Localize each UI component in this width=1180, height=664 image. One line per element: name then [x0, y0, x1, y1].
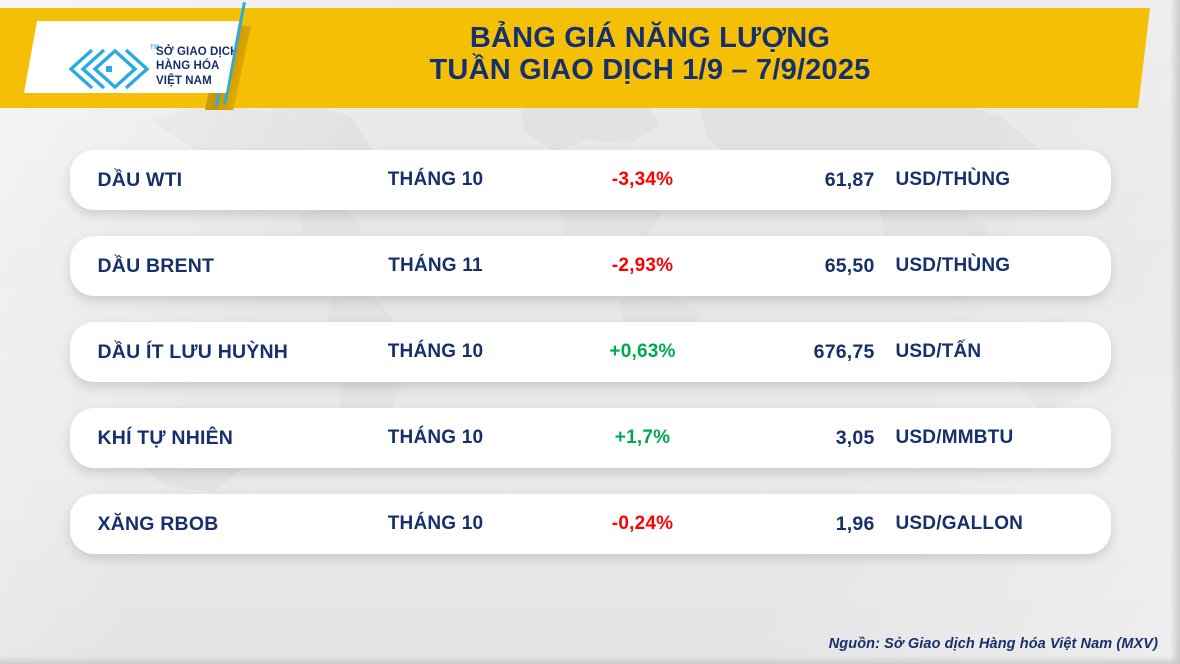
price-unit: USD/GALLON	[896, 513, 1096, 535]
table-row[interactable]: DẦU ÍT LƯU HUỲNHTHÁNG 10+0,63%676,75USD/…	[70, 322, 1111, 382]
logo-card: TM SỞ GIAO DỊCH HÀNG HÓA VIỆT NAM	[24, 21, 239, 93]
commodity-name: DẦU WTI	[98, 169, 368, 192]
table-row[interactable]: DẦU BRENTTHÁNG 11-2,93%65,50USD/THÙNG	[70, 236, 1111, 296]
commodity-name: DẦU ÍT LƯU HUỲNH	[98, 341, 368, 364]
commodity-name: KHÍ TỰ NHIÊN	[98, 427, 368, 450]
change-percent: -2,93%	[548, 255, 738, 277]
page-title: BẢNG GIÁ NĂNG LƯỢNG TUẦN GIAO DỊCH 1/9 –…	[260, 22, 1040, 87]
contract-month: THÁNG 10	[356, 427, 516, 449]
contract-month: THÁNG 10	[356, 513, 516, 535]
source-attribution: Nguồn: Sở Giao dịch Hàng hóa Việt Nam (M…	[829, 636, 1158, 652]
price-value: 65,50	[720, 255, 875, 278]
commodity-name: DẦU BRENT	[98, 255, 368, 278]
price-table: DẦU WTITHÁNG 10-3,34%61,87USD/THÙNGDẦU B…	[0, 150, 1180, 580]
title-line-1: BẢNG GIÁ NĂNG LƯỢNG	[260, 22, 1040, 54]
price-value: 61,87	[720, 169, 875, 192]
price-unit: USD/THÙNG	[896, 169, 1096, 191]
table-row[interactable]: XĂNG RBOBTHÁNG 10-0,24%1,96USD/GALLON	[70, 494, 1111, 554]
title-line-2: TUẦN GIAO DỊCH 1/9 – 7/9/2025	[260, 54, 1040, 86]
price-unit: USD/THÙNG	[896, 255, 1096, 277]
change-percent: -3,34%	[548, 169, 738, 191]
bottom-edge-shade	[0, 656, 1180, 664]
change-percent: +1,7%	[548, 427, 738, 449]
table-row[interactable]: DẦU WTITHÁNG 10-3,34%61,87USD/THÙNG	[70, 150, 1111, 210]
contract-month: THÁNG 11	[356, 255, 516, 277]
change-percent: +0,63%	[548, 341, 738, 363]
table-row[interactable]: KHÍ TỰ NHIÊNTHÁNG 10+1,7%3,05USD/MMBTU	[70, 408, 1111, 468]
contract-month: THÁNG 10	[356, 341, 516, 363]
price-value: 1,96	[720, 513, 875, 536]
commodity-name: XĂNG RBOB	[98, 513, 368, 536]
price-unit: USD/MMBTU	[896, 427, 1096, 449]
contract-month: THÁNG 10	[356, 169, 516, 191]
price-unit: USD/TẤN	[896, 341, 1096, 363]
change-percent: -0,24%	[548, 513, 738, 535]
price-value: 676,75	[720, 341, 875, 364]
mxv-logo-icon	[68, 47, 150, 91]
price-value: 3,05	[720, 427, 875, 450]
